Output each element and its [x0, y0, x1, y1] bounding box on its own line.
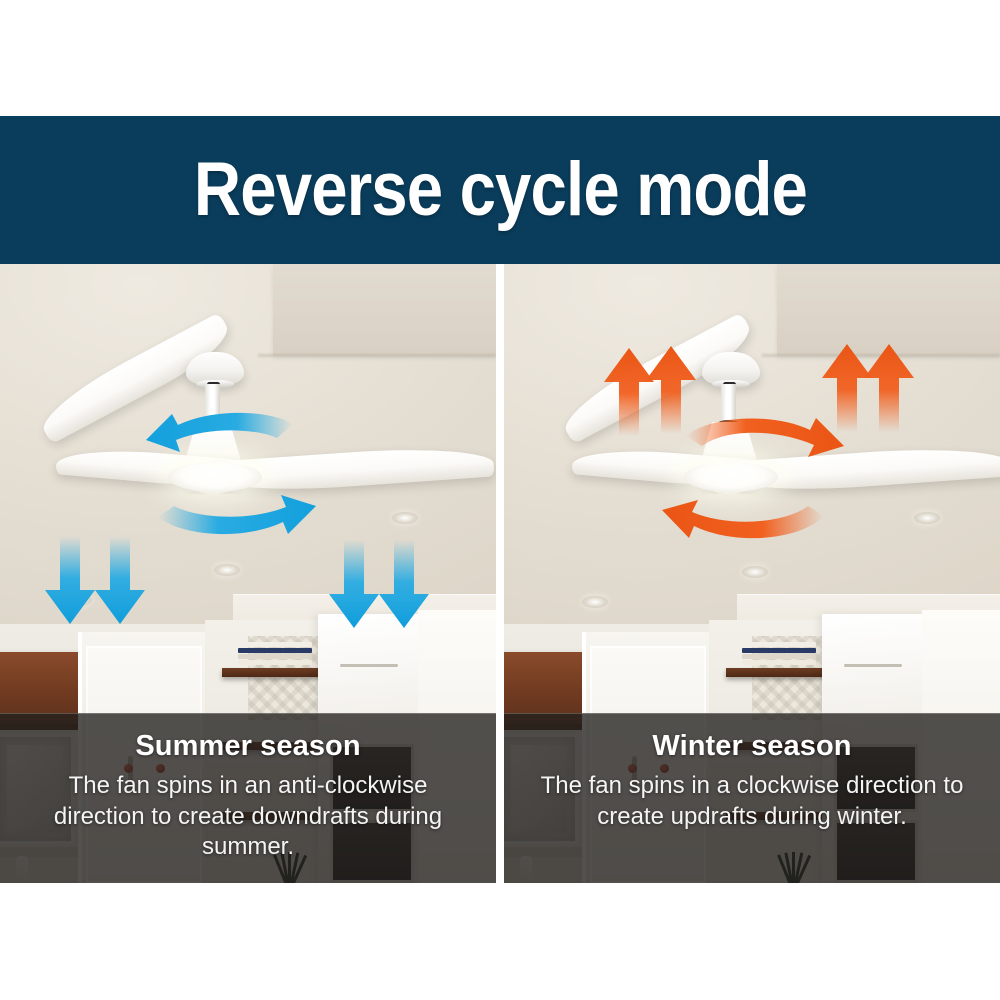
fan-light-kit: [684, 462, 778, 492]
panel-winter: Winter season The fan spins in a clockwi…: [504, 264, 1000, 883]
panel-divider: [496, 264, 504, 883]
caption-title-winter: Winter season: [504, 728, 1000, 764]
comparison-panels: Summer season The fan spins in an anti-c…: [0, 264, 1000, 883]
panel-summer: Summer season The fan spins in an anti-c…: [0, 264, 496, 883]
caption-body-winter: The fan spins in a clockwise direction t…: [504, 771, 1000, 832]
product-feature-graphic: Reverse cycle mode: [0, 0, 1000, 1000]
page-title: Reverse cycle mode: [193, 152, 806, 228]
title-banner: Reverse cycle mode: [0, 116, 1000, 264]
caption-body-summer: The fan spins in an anti-clockwise direc…: [0, 771, 496, 862]
fan-light-kit: [168, 462, 262, 492]
ceiling-fan-icon: [504, 264, 1000, 684]
ceiling-fan-icon: [0, 264, 496, 684]
caption-summer: Summer season The fan spins in an anti-c…: [0, 713, 496, 883]
caption-title-summer: Summer season: [0, 728, 496, 764]
caption-winter: Winter season The fan spins in a clockwi…: [504, 713, 1000, 883]
